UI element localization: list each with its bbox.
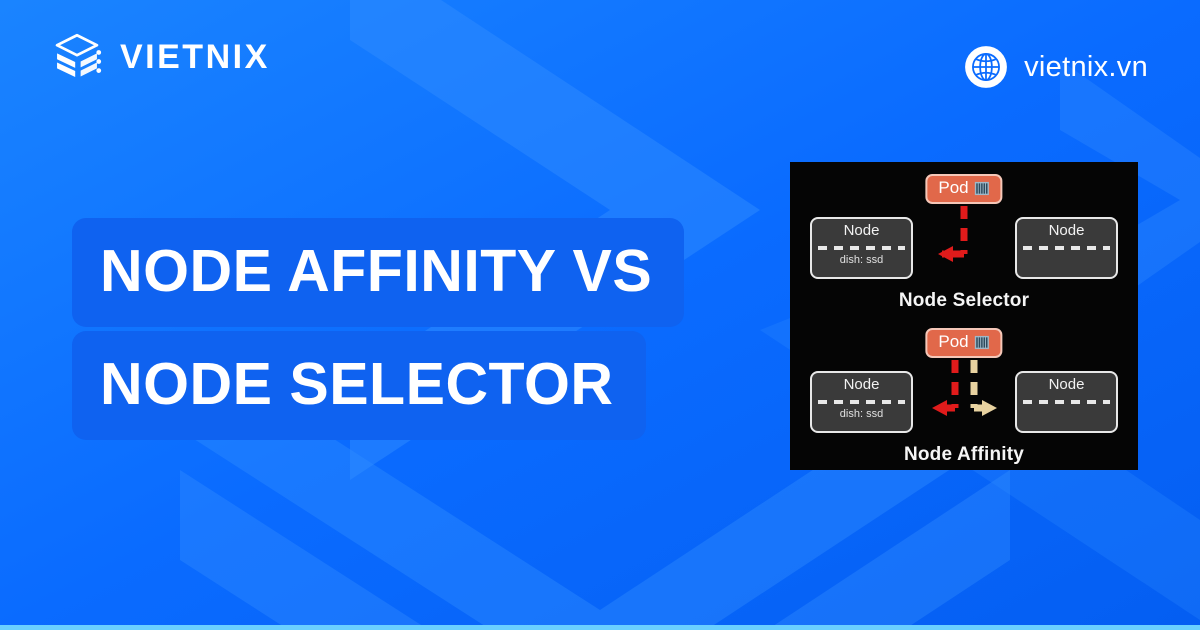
diagram-panel: Pod Node dish: ssd Node — [790, 162, 1138, 470]
stacked-layers-icon — [48, 28, 106, 86]
node-affinity-diagram: Pod Node dish: ssd Node — [790, 316, 1138, 470]
node-title: Node — [1049, 223, 1085, 240]
pod-box-selector: Pod — [925, 174, 1002, 204]
node-box-left-selector: Node dish: ssd — [810, 217, 913, 279]
website-badge[interactable]: vietnix.vn — [963, 44, 1148, 90]
node-affinity-caption: Node Affinity — [790, 444, 1138, 466]
page-title: NODE AFFINITY VS NODE SELECTOR — [72, 218, 684, 440]
bottom-accent-strip — [0, 625, 1200, 630]
node-divider — [818, 400, 905, 404]
server-rack-icon — [975, 335, 990, 350]
globe-icon — [963, 44, 1009, 90]
tan-dashed-arrow-right — [974, 360, 997, 416]
title-line-2: NODE SELECTOR — [72, 331, 646, 440]
pod-box-affinity: Pod — [925, 328, 1002, 358]
node-selector-diagram: Pod Node dish: ssd Node — [790, 162, 1138, 316]
title-line-1: NODE AFFINITY VS — [72, 218, 684, 327]
node-label-dish-ssd: dish: ssd — [840, 408, 883, 420]
node-box-left-affinity: Node dish: ssd — [810, 371, 913, 433]
server-rack-icon — [975, 181, 990, 196]
brand-name: VIETNIX — [120, 40, 270, 74]
red-dashed-arrow-left — [932, 360, 955, 416]
website-url: vietnix.vn — [1024, 51, 1148, 84]
node-title: Node — [844, 377, 880, 394]
node-divider — [818, 246, 905, 250]
node-divider — [1023, 246, 1110, 250]
brand-logo: VIETNIX — [48, 28, 270, 86]
node-title: Node — [1049, 377, 1085, 394]
node-box-right-selector: Node — [1015, 217, 1118, 279]
node-title: Node — [844, 223, 880, 240]
node-divider — [1023, 400, 1110, 404]
red-dashed-arrow-left — [938, 206, 964, 262]
node-selector-caption: Node Selector — [790, 290, 1138, 312]
node-label-dish-ssd: dish: ssd — [840, 254, 883, 266]
pod-label: Pod — [938, 179, 968, 198]
node-box-right-affinity: Node — [1015, 371, 1118, 433]
pod-label: Pod — [938, 333, 968, 352]
